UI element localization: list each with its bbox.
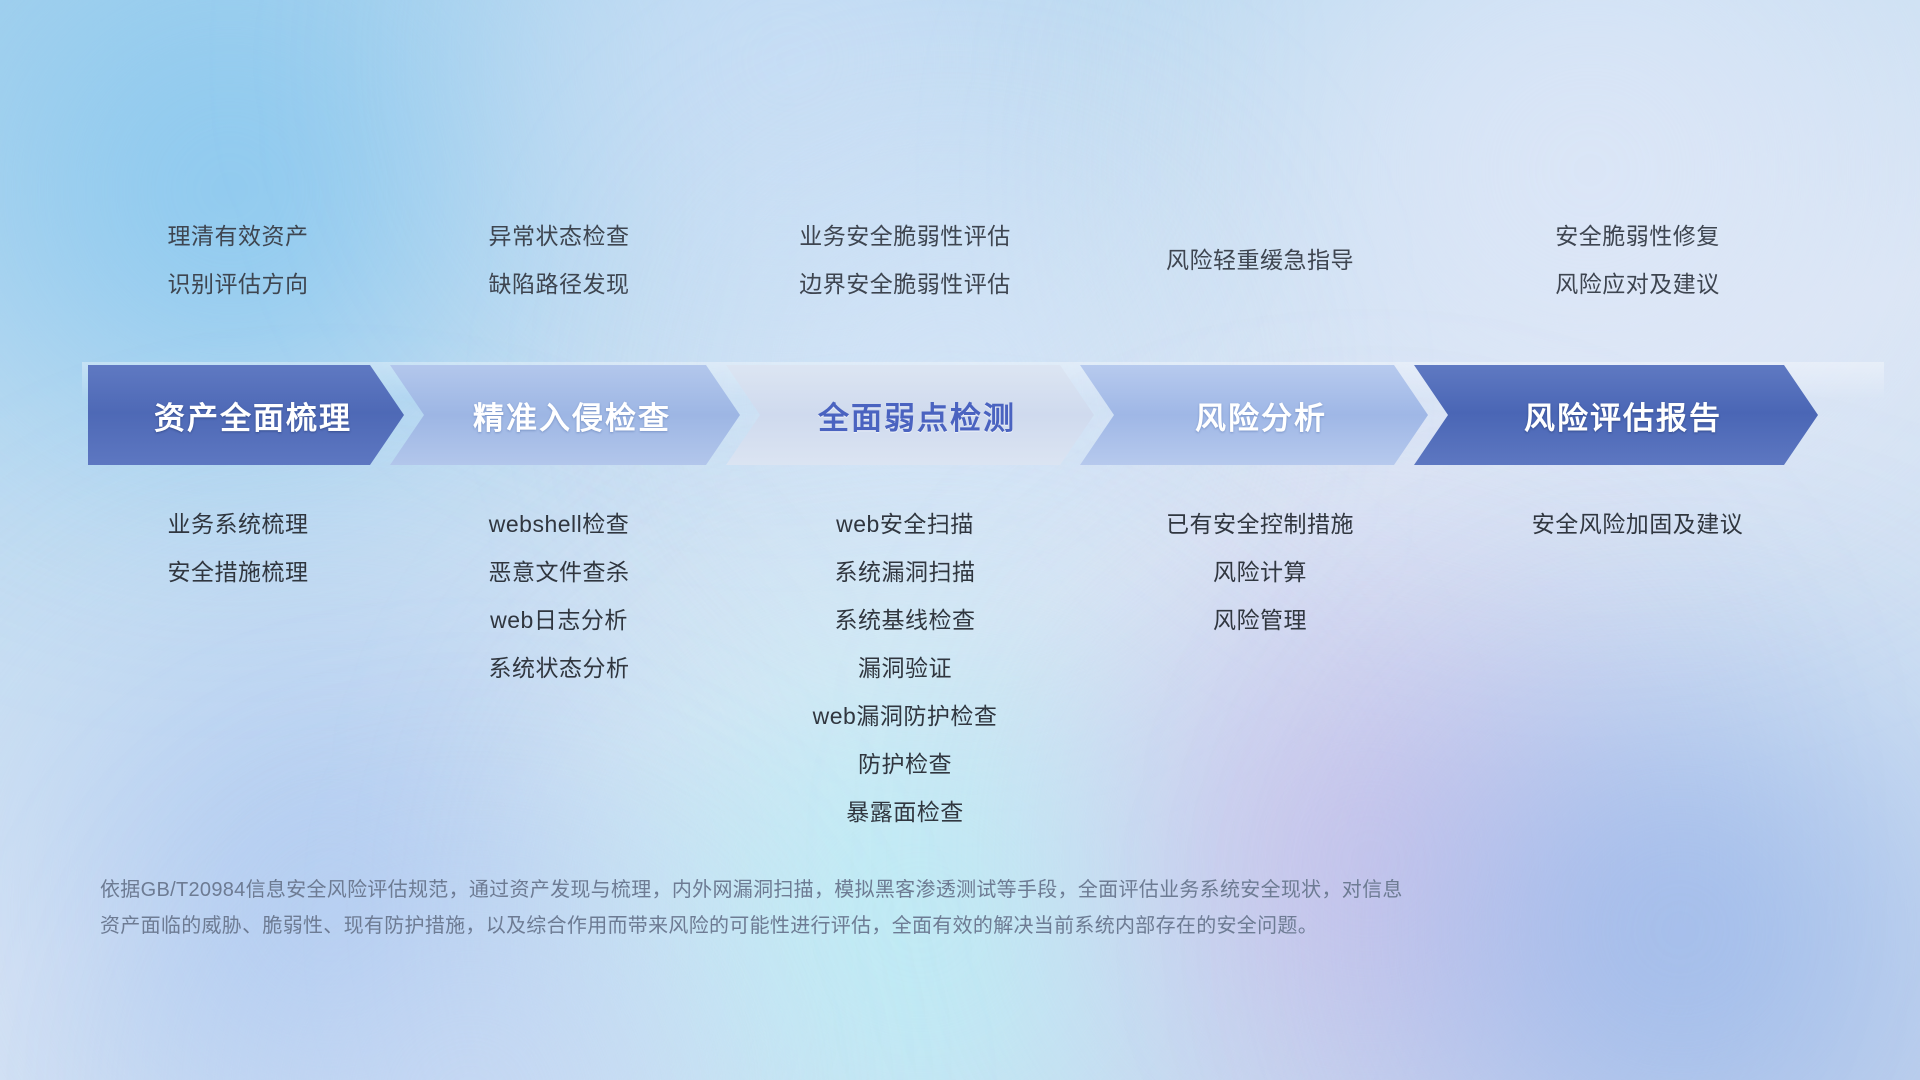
- output-item: 安全风险加固及建议: [1440, 500, 1835, 548]
- stage-inputs-intrusion-check: 异常状态检查 缺陷路径发现: [388, 212, 730, 308]
- stage-label: 资产全面梳理: [140, 393, 352, 438]
- output-item: webshell检查: [388, 500, 730, 548]
- stage-outputs-risk-analysis: 已有安全控制措施 风险计算 风险管理: [1080, 500, 1440, 644]
- output-item: 防护检查: [730, 740, 1080, 788]
- output-item: 风险管理: [1080, 596, 1440, 644]
- output-item: web日志分析: [388, 596, 730, 644]
- input-item: 异常状态检查: [388, 212, 730, 260]
- footer-line-2: 资产面临的威胁、脆弱性、现有防护措施，以及综合作用而带来风险的可能性进行评估，全…: [100, 908, 1660, 944]
- output-item: 安全措施梳理: [88, 548, 388, 596]
- input-item: 缺陷路径发现: [388, 260, 730, 308]
- output-item: 漏洞验证: [730, 644, 1080, 692]
- input-item: 边界安全脆弱性评估: [730, 260, 1080, 308]
- input-item: 识别评估方向: [88, 260, 388, 308]
- footer-description: 依据GB/T20984信息安全风险评估规范，通过资产发现与梳理，内外网漏洞扫描，…: [100, 872, 1660, 944]
- stage-chevron-risk-report[interactable]: 风险评估报告: [1414, 365, 1818, 465]
- output-item: 已有安全控制措施: [1080, 500, 1440, 548]
- stage-outputs-weakness-detection: web安全扫描 系统漏洞扫描 系统基线检查 漏洞验证 web漏洞防护检查 防护检…: [730, 500, 1080, 836]
- stage-chevron-risk-analysis[interactable]: 风险分析: [1080, 365, 1428, 465]
- output-item: 系统基线检查: [730, 596, 1080, 644]
- stage-outputs-risk-report: 安全风险加固及建议: [1440, 500, 1835, 548]
- stage-inputs-row: 理清有效资产 识别评估方向 异常状态检查 缺陷路径发现 业务安全脆弱性评估 边界…: [88, 212, 1876, 332]
- stage-inputs-weakness-detection: 业务安全脆弱性评估 边界安全脆弱性评估: [730, 212, 1080, 308]
- stage-label: 全面弱点检测: [804, 393, 1016, 438]
- stage-label: 精准入侵检查: [459, 393, 671, 438]
- stage-chevron-intrusion-check[interactable]: 精准入侵检查: [390, 365, 740, 465]
- stage-outputs-asset-inventory: 业务系统梳理 安全措施梳理: [88, 500, 388, 596]
- stage-outputs-row: 业务系统梳理 安全措施梳理 webshell检查 恶意文件查杀 web日志分析 …: [88, 500, 1876, 830]
- output-item: 业务系统梳理: [88, 500, 388, 548]
- footer-line-1: 依据GB/T20984信息安全风险评估规范，通过资产发现与梳理，内外网漏洞扫描，…: [100, 872, 1660, 908]
- stage-chevron-asset-inventory[interactable]: 资产全面梳理: [88, 365, 404, 465]
- output-item: web安全扫描: [730, 500, 1080, 548]
- output-item: web漏洞防护检查: [730, 692, 1080, 740]
- input-item: 风险轻重缓急指导: [1080, 212, 1440, 308]
- stage-inputs-asset-inventory: 理清有效资产 识别评估方向: [88, 212, 388, 308]
- stage-label: 风险分析: [1181, 393, 1327, 438]
- input-item: 理清有效资产: [88, 212, 388, 260]
- stage-inputs-risk-report: 安全脆弱性修复 风险应对及建议: [1440, 212, 1835, 308]
- output-item: 系统状态分析: [388, 644, 730, 692]
- stage-chevron-weakness-detection[interactable]: 全面弱点检测: [726, 365, 1094, 465]
- output-item: 暴露面检查: [730, 788, 1080, 836]
- process-diagram: 理清有效资产 识别评估方向 异常状态检查 缺陷路径发现 业务安全脆弱性评估 边界…: [0, 0, 1920, 1080]
- input-item: 风险应对及建议: [1440, 260, 1835, 308]
- stage-label: 风险评估报告: [1510, 393, 1722, 438]
- stage-chevron-band: 资产全面梳理 精准入侵检查 全面弱点检测 风险分析 风险评估报告: [88, 365, 1878, 465]
- output-item: 风险计算: [1080, 548, 1440, 596]
- stage-inputs-risk-analysis: 风险轻重缓急指导: [1080, 212, 1440, 308]
- output-item: 恶意文件查杀: [388, 548, 730, 596]
- output-item: 系统漏洞扫描: [730, 548, 1080, 596]
- input-item: 业务安全脆弱性评估: [730, 212, 1080, 260]
- stage-outputs-intrusion-check: webshell检查 恶意文件查杀 web日志分析 系统状态分析: [388, 500, 730, 692]
- input-item: 安全脆弱性修复: [1440, 212, 1835, 260]
